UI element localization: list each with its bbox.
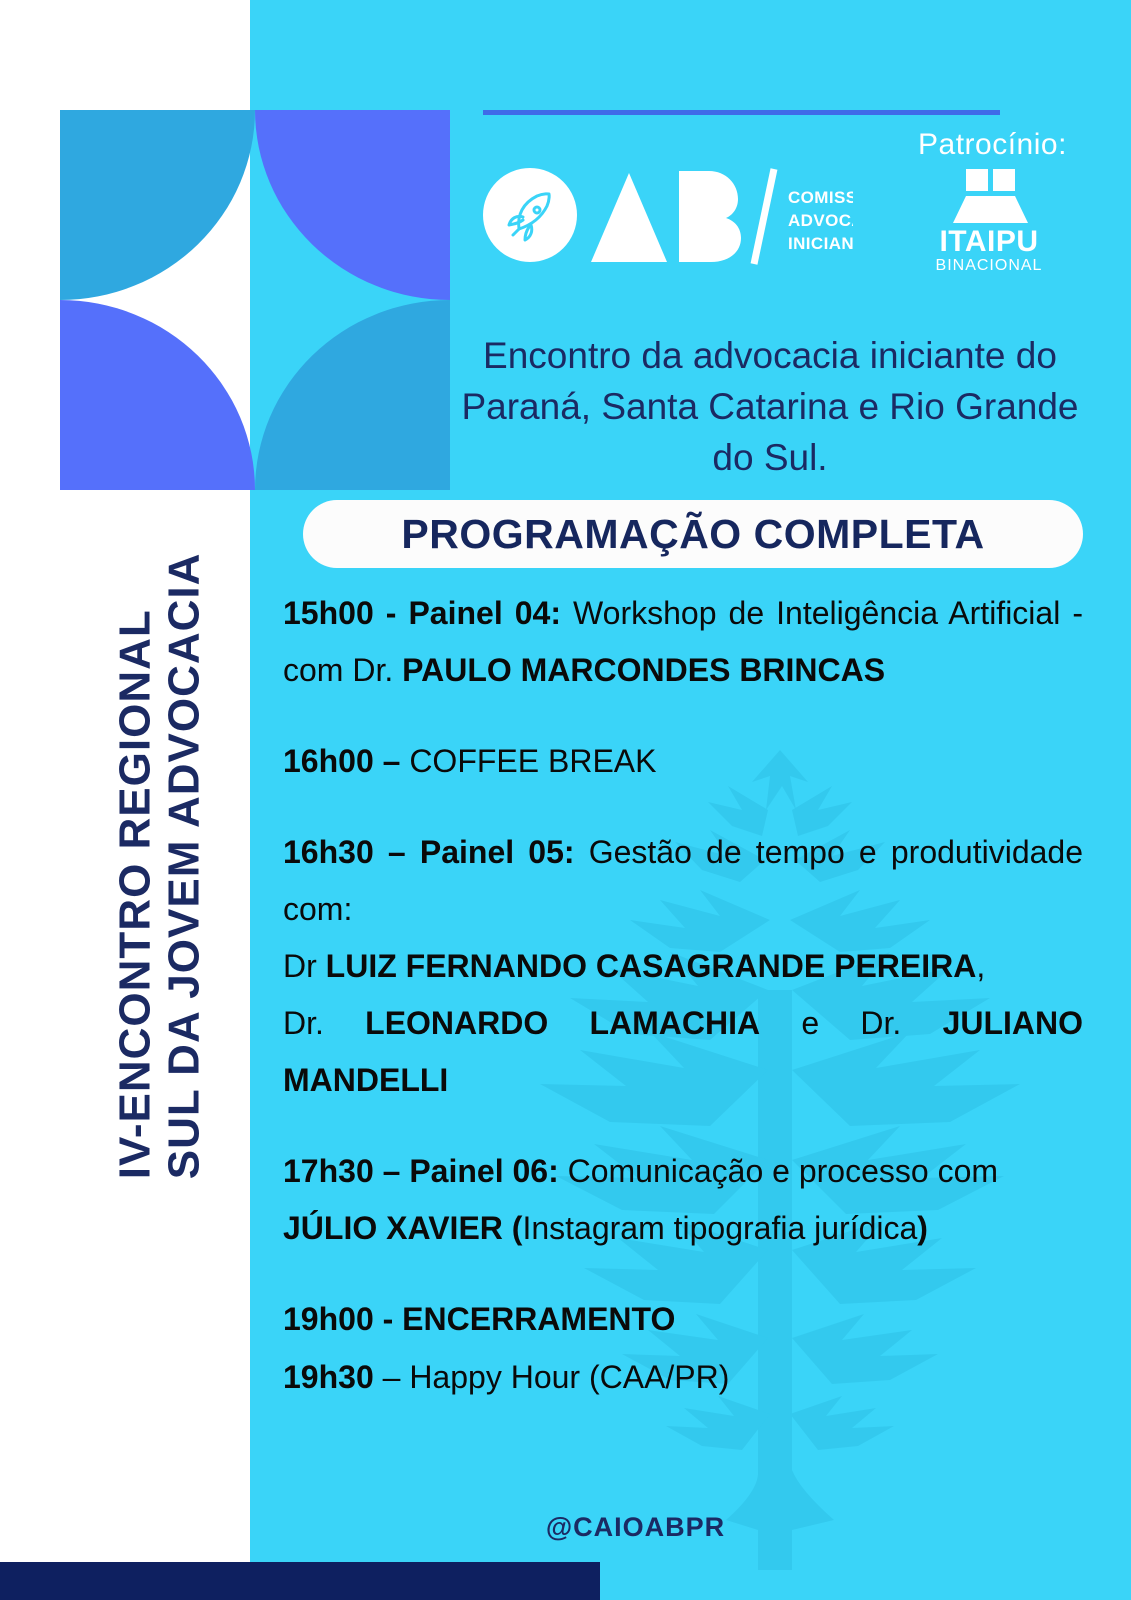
painel-05-panel: Painel 05:: [420, 834, 575, 870]
painel-06-paren-text: Instagram tipografia jurídica: [522, 1210, 917, 1246]
schedule-item-painel-05: 16h30 – Painel 05: Gestão de tempo e pro…: [283, 824, 1083, 938]
painel-05-speaker-line-1: Dr LUIZ FERNANDO CASAGRANDE PEREIRA,: [283, 938, 1083, 995]
painel-04-speakers: PAULO MARCONDES BRINCAS: [402, 652, 885, 688]
itaipu-subtitle: BINACIONAL: [936, 257, 1043, 274]
social-handle: @CAIOABPR: [0, 1512, 1131, 1543]
painel-05-speaker2-mid: e Dr.: [760, 1005, 942, 1041]
happy-hour-time: 19h30: [283, 1359, 383, 1395]
oab-sub-line2: ADVOCACIA: [788, 211, 853, 230]
oab-sub-line1: COMISSÃO DA: [788, 187, 853, 207]
schedule-item-coffee-break: 16h00 – COFFEE BREAK: [283, 733, 1083, 790]
oab-logo: COMISSÃO DA ADVOCACIA INICIANTE: [483, 163, 853, 268]
event-vertical-title-line2: SUL DA JOVEM ADVOCACIA: [160, 199, 209, 1179]
encerramento-description: ENCERRAMENTO: [402, 1301, 675, 1337]
painel-04-panel: Painel 04:: [408, 595, 561, 631]
painel-06-speaker-name: JÚLIO XAVIER: [283, 1210, 512, 1246]
event-vertical-title-line1: IV-ENCONTRO REGIONAL: [111, 199, 160, 1179]
event-headline: Encontro da advocacia iniciante do Paran…: [440, 330, 1100, 483]
poster-canvas: IV-ENCONTRO REGIONAL SUL DA JOVEM ADVOCA…: [0, 0, 1131, 1600]
event-vertical-title: IV-ENCONTRO REGIONAL SUL DA JOVEM ADVOCA…: [111, 199, 210, 1179]
coffee-break-description: COFFEE BREAK: [409, 743, 656, 779]
painel-05-time: 16h30 –: [283, 834, 420, 870]
painel-05-speaker1-suffix: ,: [976, 948, 985, 984]
painel-04-time: 15h00 -: [283, 595, 408, 631]
painel-06-panel: Painel 06:: [409, 1153, 558, 1189]
coffee-break-time: 16h00 –: [283, 743, 409, 779]
painel-06-paren-close: ): [917, 1210, 928, 1246]
painel-06-time: 17h30 –: [283, 1153, 409, 1189]
encerramento-time: 19h00 -: [283, 1301, 402, 1337]
footer-navy-bar: [0, 1562, 600, 1600]
social-handle-text: @CAIOABPR: [546, 1512, 725, 1542]
painel-06-paren-open: (: [512, 1210, 523, 1246]
quarter-circle-bottom-right: [255, 300, 450, 490]
oab-sub-line3: INICIANTE: [788, 234, 853, 253]
painel-05-speaker2-name1: LEONARDO LAMACHIA: [365, 1005, 760, 1041]
painel-05-speaker1-prefix: Dr: [283, 948, 326, 984]
schedule-item-encerramento: 19h00 - ENCERRAMENTO: [283, 1291, 1083, 1348]
happy-hour-description: – Happy Hour (CAA/PR): [383, 1359, 730, 1395]
programacao-completa-badge: PROGRAMAÇÃO COMPLETA: [303, 500, 1083, 568]
programacao-completa-label: PROGRAMAÇÃO COMPLETA: [401, 511, 984, 558]
painel-06-description: Comunicação e processo com: [559, 1153, 998, 1189]
painel-05-speaker2-prefix: Dr.: [283, 1005, 365, 1041]
schedule-item-painel-06: 17h30 – Painel 06: Comunicação e process…: [283, 1143, 1083, 1257]
painel-05-speaker-line-2: Dr. LEONARDO LAMACHIA e Dr. JULIANO MAND…: [283, 995, 1083, 1109]
itaipu-wordmark: ITAIPU: [939, 225, 1038, 258]
schedule-list: 15h00 - Painel 04: Workshop de Inteligên…: [283, 585, 1083, 1406]
schedule-item-painel-04: 15h00 - Painel 04: Workshop de Inteligên…: [283, 585, 1083, 699]
painel-05-speaker1-name: LUIZ FERNANDO CASAGRANDE PEREIRA: [326, 948, 977, 984]
schedule-item-happy-hour: 19h30 – Happy Hour (CAA/PR): [283, 1349, 1083, 1406]
itaipu-logo: ITAIPU BINACIONAL: [922, 165, 1057, 275]
sponsor-label: Patrocínio:: [918, 128, 1067, 162]
quarter-circle-top-right: [255, 110, 450, 300]
header-divider-rule: [483, 110, 1000, 115]
